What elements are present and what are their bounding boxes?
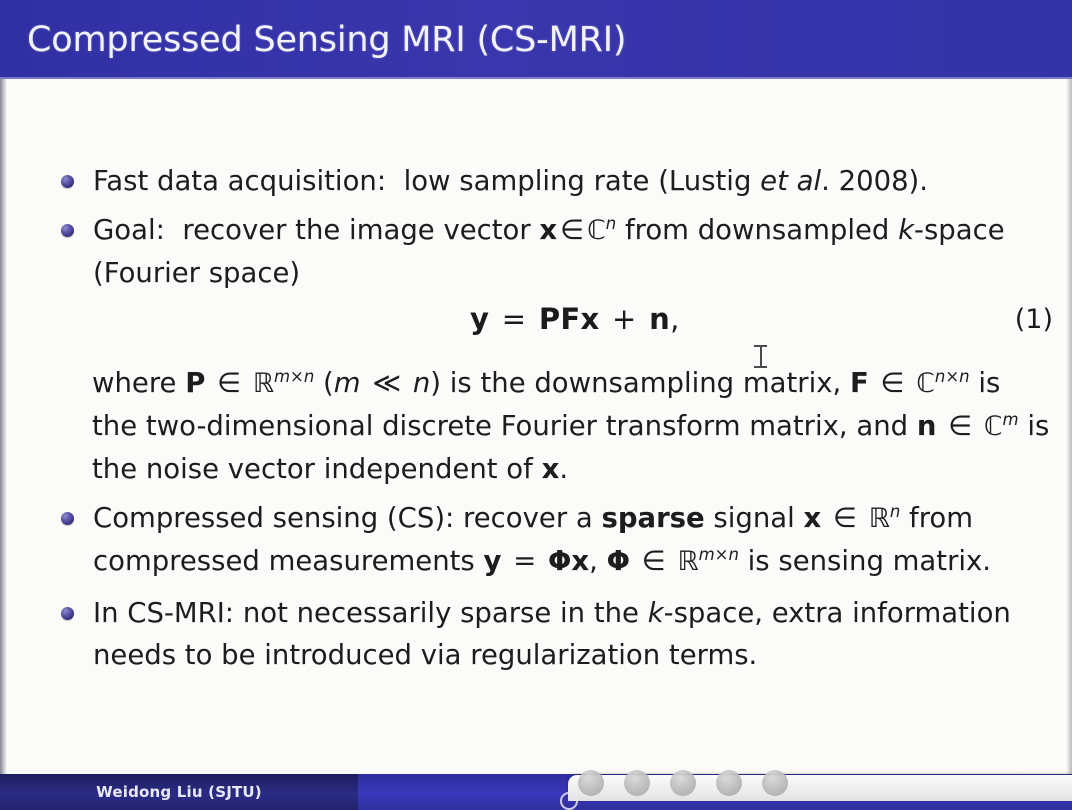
where-line-3: the noise vector independent of x. bbox=[92, 448, 1054, 490]
slide-title: Compressed Sensing MRI (CS-MRI) bbox=[27, 20, 626, 60]
bullet-marker-icon bbox=[61, 224, 74, 237]
slide-body: Fast data acquisition: low sampling rate… bbox=[0, 79, 1072, 774]
toolbar-button-3-icon[interactable] bbox=[670, 770, 696, 796]
toolbar-button-4-icon[interactable] bbox=[716, 770, 742, 796]
bullet-text-cs-line1: Compressed sensing (CS): recover a spars… bbox=[93, 497, 1053, 540]
bullet-text-goal-line1: Goal: recover the image vector x∈ℂn from… bbox=[93, 209, 1053, 252]
equation-row: y = PFx + n, (1) bbox=[58, 302, 1053, 346]
bullet-list-upper: Fast data acquisition: low sampling rate… bbox=[58, 160, 1053, 301]
bullet-list-lower: Compressed sensing (CS): recover a spars… bbox=[58, 497, 1053, 685]
toolbar-button-1-icon[interactable] bbox=[578, 770, 604, 796]
bullet-text-goal-line2: (Fourier space) bbox=[93, 252, 1053, 294]
presentation-slide: Compressed Sensing MRI (CS-MRI) Fast dat… bbox=[0, 0, 1072, 810]
bullet-text-csmri-line1: In CS-MRI: not necessarily sparse in the… bbox=[93, 592, 1053, 634]
bullet-marker-icon bbox=[61, 607, 74, 620]
bullet-compressed-sensing: Compressed sensing (CS): recover a spars… bbox=[58, 497, 1053, 583]
equation-expression: y = PFx + n, bbox=[470, 302, 680, 336]
slide-title-bar: Compressed Sensing MRI (CS-MRI) bbox=[0, 0, 1072, 79]
bullet-text-csmri-line2: needs to be introduced via regularizatio… bbox=[93, 634, 1053, 676]
where-line-1: where P ∈ ℝm×n (m ≪ n) is the downsampli… bbox=[92, 362, 1054, 405]
toolbar-button-5-icon[interactable] bbox=[762, 770, 788, 796]
viewer-toolbar[interactable] bbox=[568, 775, 1072, 801]
bullet-text-fast-data-acquisition: Fast data acquisition: low sampling rate… bbox=[93, 160, 1053, 202]
toolbar-left-handle-icon[interactable] bbox=[560, 792, 578, 810]
toolbar-button-2-icon[interactable] bbox=[624, 770, 650, 796]
bullet-text-cs-line2: compressed measurements y = Φx, Φ ∈ ℝm×n… bbox=[93, 540, 1053, 583]
bullet-fast-data-acquisition: Fast data acquisition: low sampling rate… bbox=[58, 160, 1053, 202]
where-line-2: the two-dimensional discrete Fourier tra… bbox=[92, 405, 1054, 448]
where-paragraph: where P ∈ ℝm×n (m ≪ n) is the downsampli… bbox=[92, 362, 1054, 490]
bullet-goal: Goal: recover the image vector x∈ℂn from… bbox=[58, 209, 1053, 294]
bullet-marker-icon bbox=[61, 175, 74, 188]
bullet-marker-icon bbox=[61, 512, 74, 525]
footer-author: Weidong Liu (SJTU) bbox=[0, 774, 358, 810]
bullet-in-cs-mri: In CS-MRI: not necessarily sparse in the… bbox=[58, 592, 1053, 676]
equation-number: (1) bbox=[1015, 304, 1053, 335]
